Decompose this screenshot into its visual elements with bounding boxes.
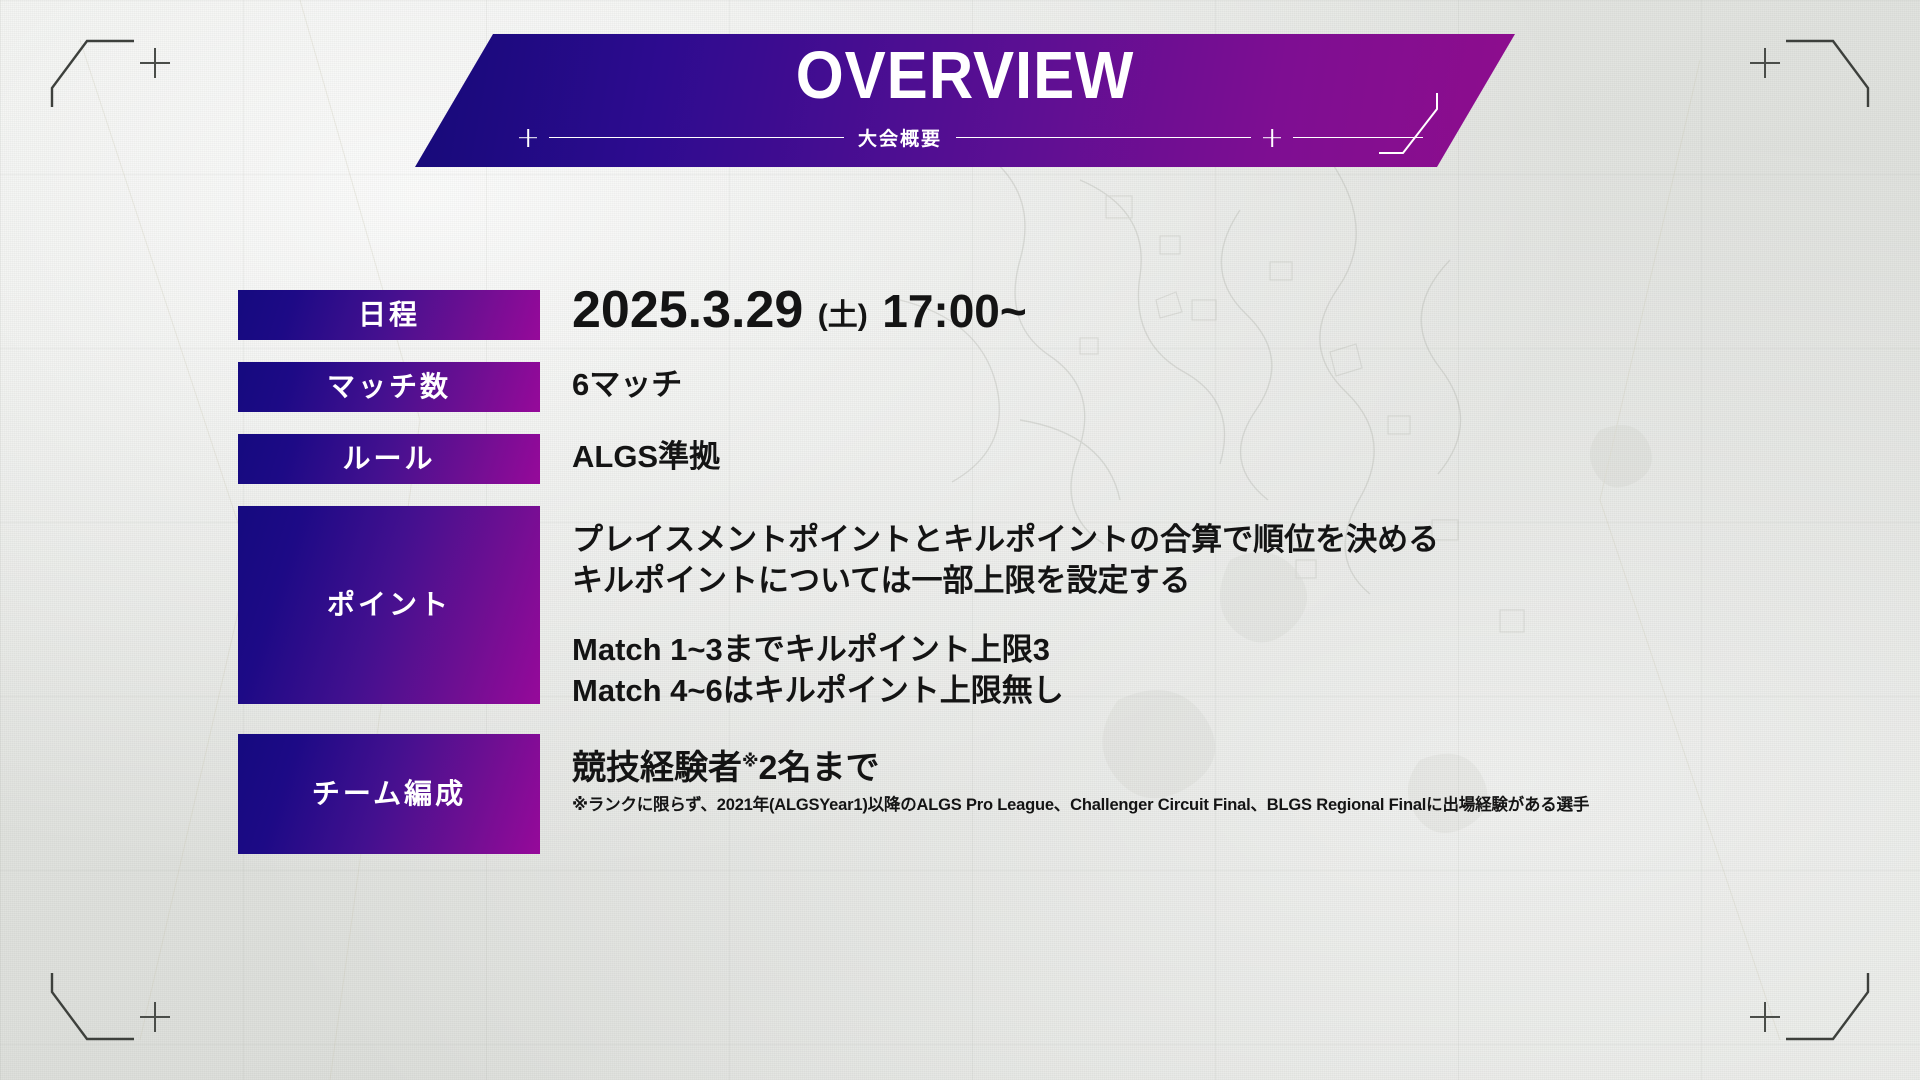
- row-value-points: プレイスメントポイントとキルポイントの合算で順位を決める キルポイントについては…: [540, 506, 1918, 712]
- points-line-1: プレイスメントポイントとキルポイントの合算で順位を決める: [572, 520, 1918, 561]
- corner-bracket-icon: [24, 14, 174, 109]
- team-main-tail: 2名まで: [759, 749, 880, 787]
- page-subtitle: 大会概要: [844, 124, 956, 151]
- plus-mark-icon: [1750, 1002, 1780, 1032]
- rule-line-right: [956, 137, 1251, 139]
- page-title: OVERVIEW: [459, 42, 1471, 109]
- plus-mark-icon: [1263, 129, 1281, 147]
- plus-mark-icon: [519, 129, 537, 147]
- row-value-rules: ALGS準拠: [540, 434, 1918, 474]
- points-line-2: キルポイントについては一部上限を設定する: [572, 561, 1918, 602]
- rule-line-left: [549, 137, 844, 139]
- row-label-points: ポイント: [238, 506, 540, 704]
- team-footnote-marker: ※: [742, 751, 759, 770]
- table-row-points: ポイント プレイスメントポイントとキルポイントの合算で順位を決める キルポイント…: [238, 506, 1918, 712]
- row-value-team-composition: 競技経験者※2名まで ※ランクに限らず、2021年(ALGSYear1)以降のA…: [540, 734, 1918, 816]
- points-spacer: [572, 602, 1918, 630]
- plus-mark-icon: [1750, 48, 1780, 78]
- table-row-team-composition: チーム編成 競技経験者※2名まで ※ランクに限らず、2021年(ALGSYear…: [238, 734, 1918, 854]
- plus-mark-icon: [140, 48, 170, 78]
- slide-stage: OVERVIEW 大会概要 日程 2025.3.29 (土) 17:00~: [0, 0, 1920, 1080]
- points-line-3: Match 1~3までキルポイント上限3: [572, 630, 1918, 671]
- schedule-time: 17:00~: [882, 285, 1027, 337]
- corner-bracket-icon: [1746, 971, 1896, 1066]
- row-label-match-count: マッチ数: [238, 362, 540, 412]
- row-label-team-composition: チーム編成: [238, 734, 540, 854]
- team-footnote-text: ※ランクに限らず、2021年(ALGSYear1)以降のALGS Pro Lea…: [572, 796, 1918, 816]
- row-label-schedule: 日程: [238, 290, 540, 340]
- points-line-4: Match 4~6はキルポイント上限無し: [572, 671, 1918, 712]
- table-row-match-count: マッチ数 6マッチ: [238, 362, 1918, 412]
- table-row-rules: ルール ALGS準拠: [238, 434, 1918, 484]
- match-count-value: 6マッチ: [572, 368, 1918, 402]
- header-banner: OVERVIEW 大会概要: [415, 34, 1515, 167]
- banner-subtitle-row: 大会概要: [415, 124, 1515, 151]
- schedule-dayofweek: (土): [818, 299, 868, 332]
- overview-table: 日程 2025.3.29 (土) 17:00~ マッチ数 6マッチ ルール AL…: [238, 290, 1918, 854]
- schedule-date: 2025.3.29: [572, 281, 803, 339]
- row-value-schedule: 2025.3.29 (土) 17:00~: [540, 290, 1918, 336]
- table-row-schedule: 日程 2025.3.29 (土) 17:00~: [238, 290, 1918, 340]
- row-label-rules: ルール: [238, 434, 540, 484]
- team-main-text: 競技経験者: [572, 749, 742, 787]
- rules-value: ALGS準拠: [572, 440, 1918, 474]
- corner-bracket-icon: [24, 971, 174, 1066]
- banner-corner-bracket-icon: [1379, 93, 1457, 161]
- row-value-match-count: 6マッチ: [540, 362, 1918, 402]
- corner-bracket-icon: [1746, 14, 1896, 109]
- plus-mark-icon: [140, 1002, 170, 1032]
